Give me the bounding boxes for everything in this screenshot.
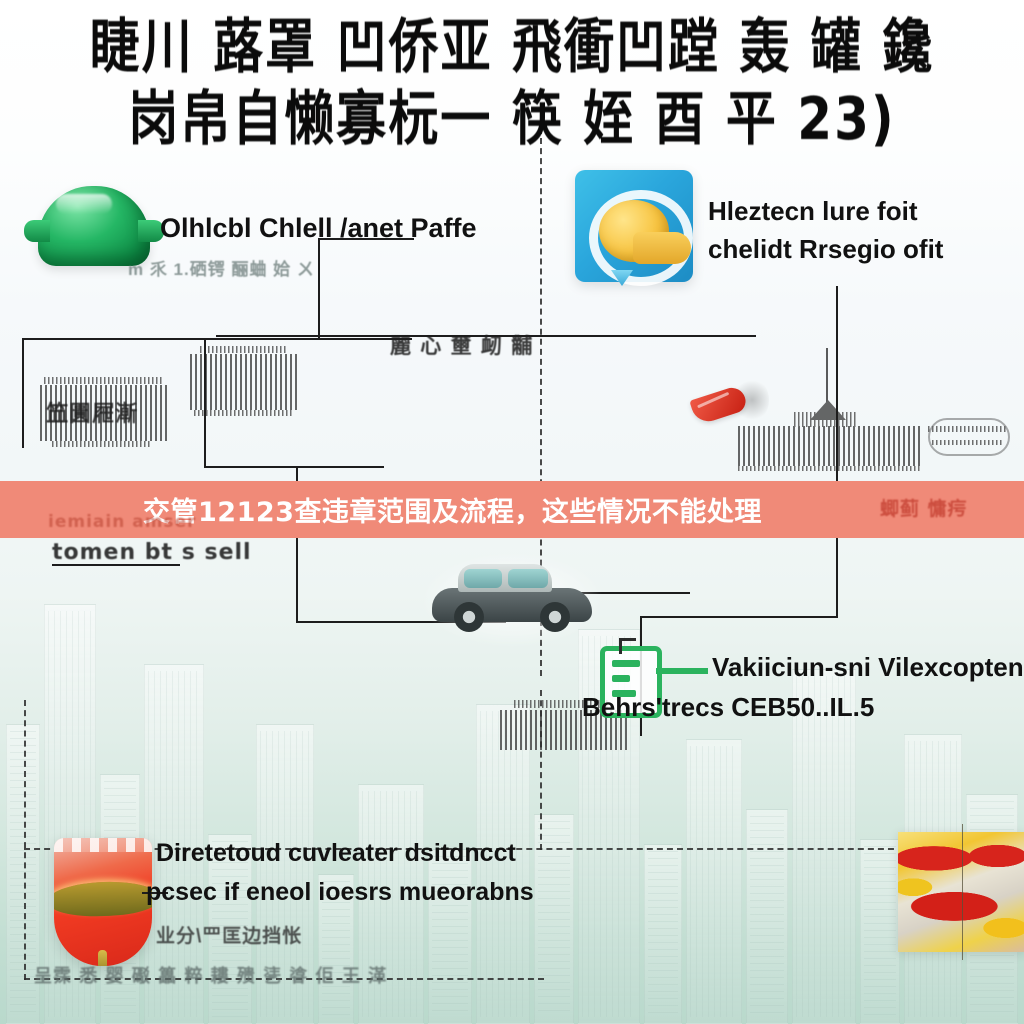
dashed-connector	[540, 690, 542, 850]
helmet-gloss	[56, 194, 112, 214]
ghost-text-left-banner: iemiain amser	[48, 512, 196, 532]
poster-title: 睫川 蕗罩 凹侨亚 飛衝凹蹚 轰 罐 鑱 岗帛自懒寡杬一 筷 姪 酉 平 23)	[0, 22, 1024, 144]
connector-line	[22, 338, 412, 340]
node-shield-label-1: Diretetoud cuvleater dsitdncct	[156, 838, 534, 869]
ghost-text-bottom-left: 呈霂 悉 婴 礟 䉪 粹 耬 㱮 乼 㽏 佢 王 㴖	[34, 962, 387, 988]
node-disc-label-2: chelidt Rrsegio ofit	[708, 234, 943, 266]
connector-line	[836, 286, 838, 616]
node-shield-label-2: pcsec if eneol ioesrs mueorabns	[146, 877, 534, 908]
poster-canvas: 睫川 蕗罩 凹侨亚 飛衝凹蹚 轰 罐 鑱 岗帛自懒寡杬一 筷 姪 酉 平 23)…	[0, 0, 1024, 1024]
shield-top-band	[54, 838, 152, 852]
poster-title-line-1: 睫川 蕗罩 凹侨亚 飛衝凹蹚 轰 罐 鑱	[0, 18, 1024, 77]
shield-gold-band	[54, 880, 152, 918]
ghost-text-mid-top: 麗 心 壐 衂 黼	[390, 330, 533, 360]
connector-line	[204, 466, 384, 468]
node-helmet-sub: m 乑 1.硒锷 酾蛐 姶 ㄨ	[128, 255, 477, 280]
poster-title-line-2: 岗帛自懒寡杬一 筷 姪 酉 平 23)	[0, 90, 1024, 149]
architecture-sketch-bridge	[928, 418, 1006, 454]
node-document-label-1: Vakiiciun-sni Vilexcopten	[712, 652, 1024, 684]
grey-sedan-car-illustration	[432, 562, 592, 634]
node-helmet-label: Olhlcbl Chlell /anet Paffe	[160, 212, 477, 245]
ghost-text-left-mid: 笽圚屜漸	[46, 396, 138, 428]
disc-tab	[633, 232, 691, 264]
connector-line	[640, 616, 838, 618]
red-gold-shield-icon	[54, 838, 152, 966]
dashed-connector	[24, 700, 26, 980]
car-window-rear	[508, 569, 548, 588]
connector-line	[204, 338, 206, 466]
node-shield-sub: 业分\罒匡边挡怅	[156, 921, 534, 948]
car-wheel-front	[454, 602, 484, 632]
car-window-front	[464, 569, 502, 588]
architecture-sketch-center	[190, 330, 300, 422]
node-disc[interactable]: Hleztecn lure foit chelidt Rrsegio ofit	[708, 196, 943, 265]
node-disc-label-1: Hleztecn lure foit	[708, 196, 943, 228]
car-wheel-rear	[540, 602, 570, 632]
connector-line	[22, 338, 24, 448]
node-document-label-2: Behrs'trecs CEB50..IL.5	[582, 692, 1024, 724]
node-document[interactable]: Vakiiciun-sni Vilexcopten Behrs'trecs CE…	[582, 652, 1024, 723]
node-shield[interactable]: Diretetoud cuvleater dsitdncct pcsec if …	[156, 838, 534, 948]
ghost-text-below-banner: tomen bt s sell	[52, 540, 252, 565]
blue-yellow-disc-icon	[575, 170, 693, 282]
headline-banner-text: 交管12123查违章范围及流程，这些情况不能处理	[143, 490, 762, 529]
ghost-text-banner-right: 蝍蓟 慵疞	[880, 494, 968, 521]
red-yellow-abstract-artwork	[898, 832, 1024, 952]
node-helmet[interactable]: Olhlcbl Chlell /anet Paffe m 乑 1.硒锷 酾蛐 姶…	[160, 212, 477, 280]
